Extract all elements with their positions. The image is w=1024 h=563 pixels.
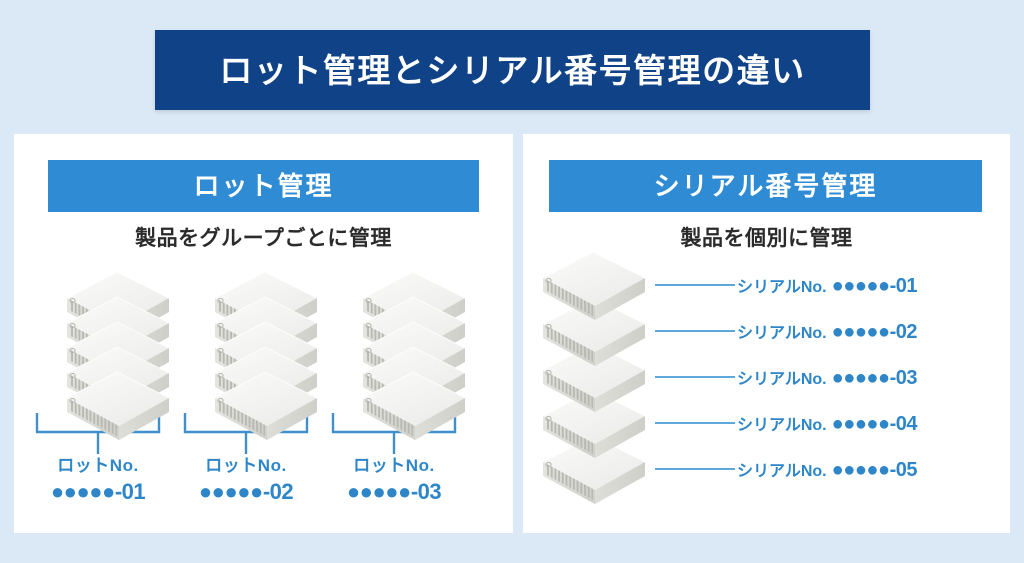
serial-number-label: シリアルNo. ●●●●●-01 [737, 272, 917, 300]
lot-number-code: ●●●●●-03 [314, 478, 474, 507]
serial-number-label: シリアルNo. ●●●●●-03 [737, 364, 917, 392]
serial-number-label: シリアルNo. ●●●●●-02 [737, 318, 917, 346]
product-box [59, 370, 175, 442]
serial-management-title: シリアル番号管理 [654, 173, 878, 199]
product-box [535, 250, 651, 322]
leader-line [655, 376, 735, 378]
serial-number-caption: シリアルNo. [737, 325, 827, 342]
leader-line [655, 330, 735, 332]
lot-management-title: ロット管理 [193, 173, 333, 199]
lot-management-subtitle: 製品をグループごとに管理 [14, 228, 513, 249]
serial-number-label: シリアルNo. ●●●●●-05 [737, 456, 917, 484]
lot-management-header: ロット管理 [48, 160, 479, 212]
serial-number-code: ●●●●●-05 [827, 459, 917, 481]
lot-number-label: ロットNo.●●●●●-01 [18, 454, 178, 506]
serial-number-caption: シリアルNo. [737, 463, 827, 480]
serial-number-label: シリアルNo. ●●●●●-04 [737, 410, 917, 438]
leader-line [655, 284, 735, 286]
serial-management-subtitle: 製品を個別に管理 [523, 228, 1010, 249]
lot-number-label: ロットNo.●●●●●-03 [314, 454, 474, 506]
lot-number-caption: ロットNo. [314, 454, 474, 478]
serial-number-code: ●●●●●-02 [827, 321, 917, 343]
lot-number-labels: ロットNo.●●●●●-01ロットNo.●●●●●-02ロットNo.●●●●●-… [14, 454, 513, 524]
lot-box-stacks [14, 270, 513, 430]
serial-number-caption: シリアルNo. [737, 371, 827, 388]
serial-item-rows: シリアルNo. ●●●●●-01シリアルNo. ●●●●●-02シリアルNo. … [523, 264, 1010, 514]
serial-number-code: ●●●●●-03 [827, 367, 917, 389]
lot-management-card: ロット管理 製品をグループごとに管理 ロットNo.●●●●●-01ロットNo.●… [14, 134, 513, 533]
lot-box-stack [355, 270, 471, 420]
serial-number-caption: シリアルNo. [737, 279, 827, 296]
product-box [207, 370, 323, 442]
lot-number-caption: ロットNo. [166, 454, 326, 478]
serial-number-code: ●●●●●-01 [827, 275, 917, 297]
page-title: ロット管理とシリアル番号管理の違い [219, 54, 805, 87]
lot-number-code: ●●●●●-01 [18, 478, 178, 507]
serial-number-code: ●●●●●-04 [827, 413, 917, 435]
serial-management-card: シリアル番号管理 製品を個別に管理 シリアルNo. ●●●●●-01シリアルNo… [523, 134, 1010, 533]
lot-number-label: ロットNo.●●●●●-02 [166, 454, 326, 506]
leader-line [655, 468, 735, 470]
product-box [355, 370, 471, 442]
comparison-panels: ロット管理 製品をグループごとに管理 ロットNo.●●●●●-01ロットNo.●… [0, 134, 1024, 533]
lot-number-caption: ロットNo. [18, 454, 178, 478]
serial-item-row: シリアルNo. ●●●●●-01 [523, 264, 1010, 310]
serial-number-caption: シリアルNo. [737, 417, 827, 434]
leader-line [655, 422, 735, 424]
lot-number-code: ●●●●●-02 [166, 478, 326, 507]
lot-box-stack [207, 270, 323, 420]
serial-management-header: シリアル番号管理 [549, 160, 982, 212]
lot-box-stack [59, 270, 175, 420]
page-title-bar: ロット管理とシリアル番号管理の違い [155, 30, 870, 110]
